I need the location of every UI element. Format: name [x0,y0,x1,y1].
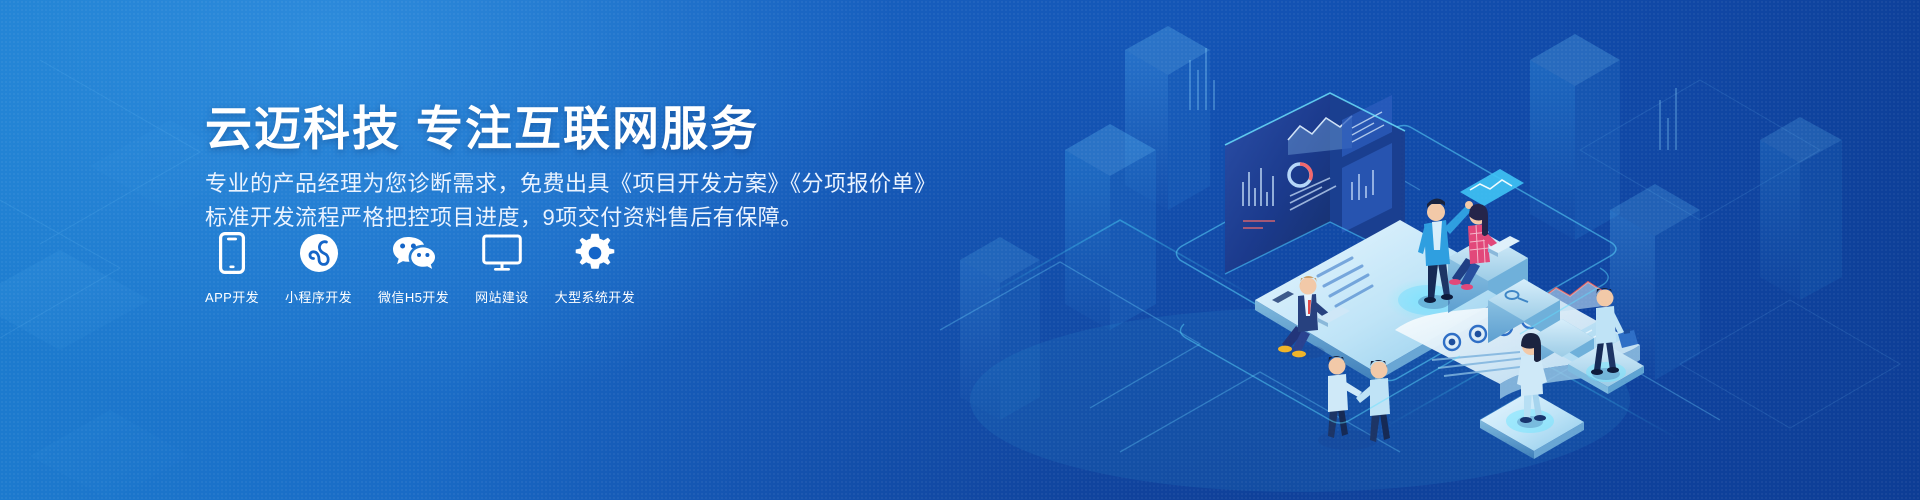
banner-content: 云迈科技 专注互联网服务 专业的产品经理为您诊断需求，免费出具《项目开发方案》《… [0,0,960,500]
service-item-miniprogram[interactable]: 小程序开发 [285,232,352,306]
mobile-phone-icon [219,232,245,274]
service-item-system[interactable]: 大型系统开发 [555,232,635,306]
service-label: 网站建设 [475,287,529,306]
service-item-wechat[interactable]: 微信H5开发 [378,232,449,306]
service-label: 小程序开发 [285,287,352,306]
service-item-app[interactable]: APP开发 [205,232,259,306]
figure-walking-man [1591,288,1638,380]
wechat-icon [391,232,437,274]
figure-standing-woman [1517,333,1547,428]
page-title: 云迈科技 专注互联网服务 [205,99,759,159]
figure-pair [1318,356,1390,450]
subtitle-line-2: 标准开发流程严格把控项目进度，9项交付资料售后有保障。 [205,202,803,234]
service-label: APP开发 [205,287,259,306]
monitor-icon [482,232,522,274]
mini-program-icon [299,232,339,274]
gear-icon [575,232,615,274]
subtitle-line-1: 专业的产品经理为您诊断需求，免费出具《项目开发方案》《分项报价单》 [205,168,937,200]
service-label: 大型系统开发 [555,287,635,306]
service-label: 微信H5开发 [378,287,449,306]
figure-presenter [1418,198,1473,309]
figure-seated-laptop [1278,276,1350,359]
service-icon-row: APP开发 小程序开发 [205,232,635,306]
hero-banner: 云迈科技 专注互联网服务 专业的产品经理为您诊断需求，免费出具《项目开发方案》《… [0,0,1920,500]
service-item-website[interactable]: 网站建设 [475,232,529,306]
figure-woman-block [1449,204,1520,290]
